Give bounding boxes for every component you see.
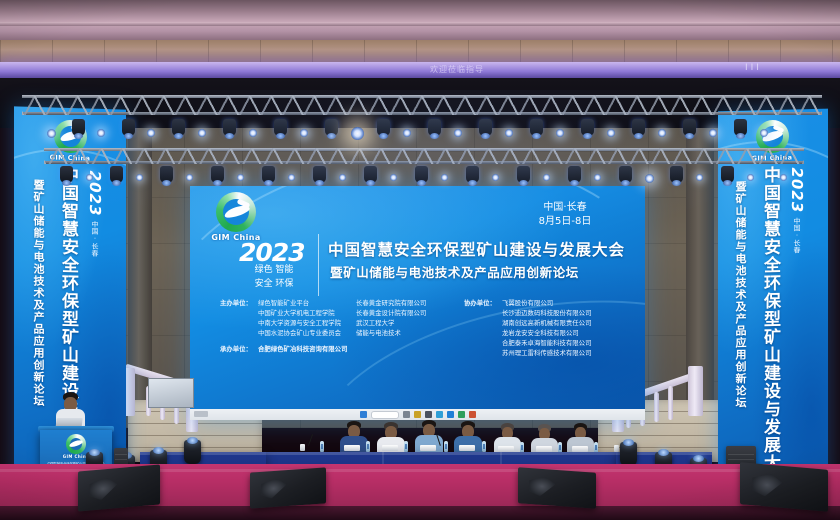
name-plate [420,445,436,451]
undertaker-label: 承办单位： [220,344,252,354]
lighting-truss-upper [22,95,822,115]
screen-year: 2023 [239,238,305,267]
host-label: 主办单位： [220,298,252,308]
powerpoint-icon[interactable] [469,411,476,418]
water-cup [614,445,619,452]
stage-monitor-speaker-center-left [250,467,326,508]
front-floor-shadow [0,506,840,520]
banner-right-year: 2023 [788,167,806,213]
name-plate [459,445,475,451]
task-view-icon[interactable] [403,411,410,418]
taskbar-weather-widget[interactable] [194,411,208,417]
windows-taskbar[interactable] [190,409,645,420]
coorg-2: 湖南创远高新机械有限责任公司 [502,318,591,328]
screen-subtitle: 暨矿山储能与电池技术及产品应用创新论坛 [330,262,579,281]
edge-icon[interactable] [436,411,443,418]
coorg-1: 长沙迪迈数码科技股份有限公司 [502,308,591,318]
water-bottle [404,441,408,452]
venue-neon-text-secondary: III [745,63,762,73]
water-bottle [320,441,324,452]
start-icon[interactable] [360,411,367,418]
screen-location: 中国·长春 [510,200,620,215]
name-plate [344,445,360,451]
conference-stage-photo: 欢迎莅临指导 III [0,0,840,520]
venue-upper-wall [0,40,840,62]
side-preview-monitor [148,378,194,408]
host-col2-1: 长春黄金设计院有限公司 [356,308,426,318]
screen-slogan-line1: 绿色 智能 [239,264,309,277]
coorg-5: 苏州理工雷科传感技术有限公司 [502,348,591,358]
venue-neon-text: 欢迎莅临指导 [430,64,690,76]
store-icon[interactable] [458,411,465,418]
banner-right-title: 中国智慧安全环保型矿山建设与发展大会 [758,166,783,491]
stage-monitor-speaker-center-right [518,467,596,508]
table-microphone [308,434,313,446]
venue-neon-strip [0,62,840,78]
coorg-label: 协办单位： [464,298,496,308]
lighting-truss-lower [44,148,804,164]
coorg-0: 飞翼股份有限公司 [502,298,553,308]
stage-monitor-speaker-left [78,464,160,511]
screen-date: 8月5日-8日 [510,214,620,229]
search-input[interactable] [371,411,399,419]
banner-right-subtitle: 暨矿山储能与电池技术及产品应用创新论坛 [732,181,748,409]
water-bottle [444,441,448,452]
undertaker-name: 合肥绿色矿冶科技咨询有限公司 [258,344,347,354]
host-col2-0: 长春黄金研究院有限公司 [356,298,426,308]
host-col2-3: 储能与电池技术 [356,328,401,338]
venue-ceiling [0,0,840,40]
screen-slogan-line2: 安全 环保 [239,278,309,291]
host-col1-2: 中南大学资源与安全工程学院 [258,318,341,328]
ceiling-ridge [0,22,840,26]
screen-main-title: 中国智慧安全环保型矿山建设与发展大会 [328,238,625,260]
coorg-4: 合肥泰禾卓海智能科技有限公司 [502,338,591,348]
widgets-icon[interactable] [425,411,432,418]
screen-title-divider [318,234,319,296]
banner-left-location: 中国·长春 [90,221,100,257]
banner-right-location: 中国·长春 [792,217,802,253]
stage-monitor-speaker-right [740,462,828,512]
water-bottle [482,441,486,452]
water-bottle [366,441,370,452]
host-col1-1: 中国矿业大学机电工程学院 [258,308,335,318]
host-col2-2: 武汉工程大学 [356,318,394,328]
host-col1-3: 中国水泥协会矿山专业委员会 [258,328,341,338]
gim-china-logo: GIM China [204,192,268,244]
water-cup [300,444,305,451]
banner-left-subtitle: 暨矿山储能与电池技术及产品应用创新论坛 [30,179,46,407]
coorg-3: 龙岩龙安安全科技有限公司 [502,328,579,338]
main-led-screen[interactable]: GIM China 2023 绿色 智能 安全 环保 中国智慧安全环保型矿山建设… [190,186,645,420]
mail-icon[interactable] [447,411,454,418]
host-col1-0: 绿色智能矿业平台 [258,298,309,308]
name-plate [382,445,398,451]
explorer-icon[interactable] [414,411,421,418]
